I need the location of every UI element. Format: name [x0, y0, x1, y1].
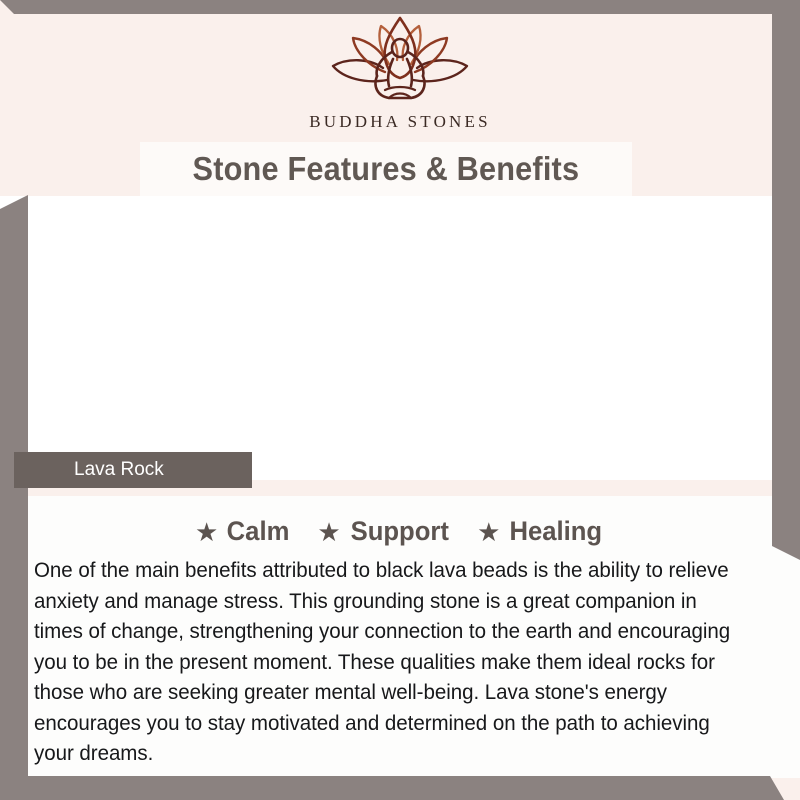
content-panel: ★ Calm ★ Support ★ Healing One of the ma…	[0, 496, 800, 778]
lava-rock-photo	[0, 196, 800, 480]
star-icon: ★	[477, 519, 500, 545]
frame-right-bar	[772, 0, 800, 560]
frame-top-bar	[0, 0, 800, 14]
benefit-label: Healing	[510, 516, 603, 547]
frame-bottom-bar	[0, 776, 800, 800]
lava-rock-image	[0, 196, 800, 480]
infographic-page: BUDDHA STONES	[0, 0, 800, 800]
photo-caption-label: Lava Rock	[74, 459, 164, 481]
star-icon: ★	[195, 519, 218, 545]
lotus-meditation-icon	[325, 14, 475, 110]
benefit-label: Support	[350, 516, 448, 547]
benefit-item-healing: ★ Healing	[477, 516, 605, 547]
benefit-item-calm: ★ Calm	[195, 516, 291, 547]
title-banner: Stone Features & Benefits	[140, 142, 632, 196]
star-icon: ★	[317, 519, 340, 545]
page-title: Stone Features & Benefits	[193, 150, 580, 188]
brand-logo: BUDDHA STONES	[0, 14, 800, 132]
benefit-label: Calm	[227, 516, 290, 547]
brand-name: BUDDHA STONES	[309, 112, 491, 132]
description-text: One of the main benefits attributed to b…	[34, 555, 733, 769]
benefit-item-support: ★ Support	[317, 516, 451, 547]
frame-left-bar	[0, 195, 28, 785]
photo-caption: Lava Rock	[14, 452, 252, 488]
benefits-row: ★ Calm ★ Support ★ Healing	[0, 496, 800, 547]
